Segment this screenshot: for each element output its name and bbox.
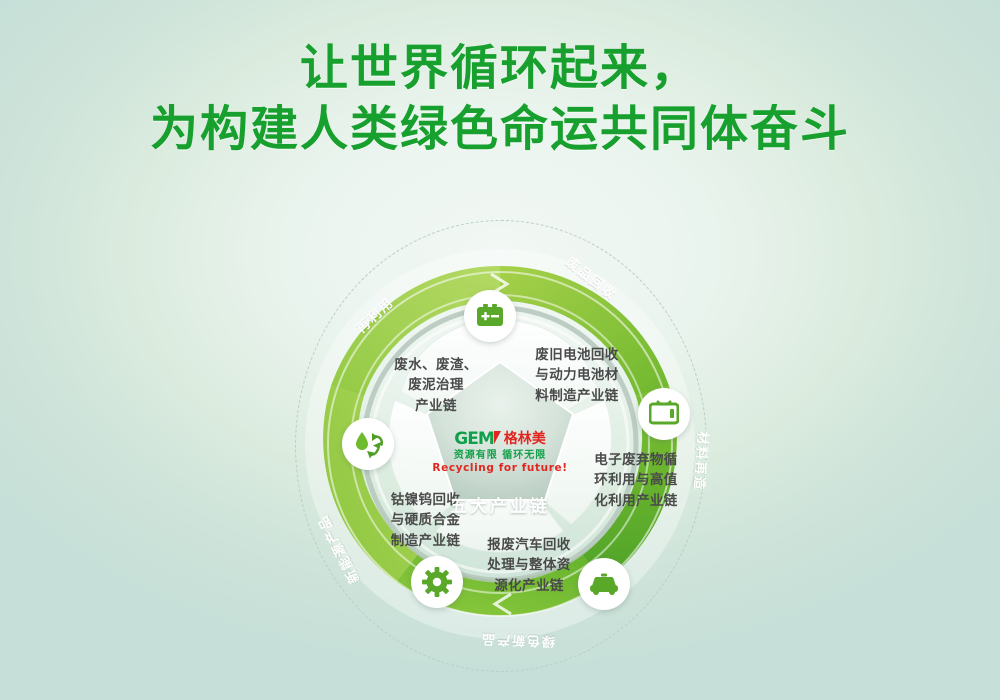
recycle-water-icon-bubble[interactable] bbox=[342, 418, 394, 470]
gem-logo: GEM格林美 资源有限 循环无限 Recycling for future! bbox=[430, 432, 570, 474]
gem-logo-triangle-icon bbox=[494, 431, 501, 444]
petal-label-e-waste: 电子废弃物循 环利用与高值 化利用产业链 bbox=[586, 450, 686, 511]
gear-icon-bubble[interactable] bbox=[411, 556, 463, 608]
petal-label-battery: 废旧电池回收 与动力电池材 料制造产业链 bbox=[513, 345, 641, 406]
petal-label-waste-water: 废水、废渣、 废泥治理 产业链 bbox=[381, 355, 491, 416]
battery-icon-bubble[interactable] bbox=[464, 290, 516, 342]
gear-icon bbox=[422, 567, 452, 597]
page-title-line-2: 为构建人类绿色命运共同体奋斗 bbox=[0, 99, 1000, 160]
monitor-icon bbox=[649, 400, 679, 428]
recycle-water-icon bbox=[352, 429, 384, 459]
ring-label-material-remake: 材料再造 bbox=[690, 431, 713, 492]
car-icon bbox=[588, 572, 620, 596]
car-icon-bubble[interactable] bbox=[578, 558, 630, 610]
center-branding: GEM格林美 资源有限 循环无限 Recycling for future! 五… bbox=[430, 414, 570, 554]
page-title-line-1: 让世界循环起来， bbox=[300, 42, 700, 95]
center-caption: 五大产业链 bbox=[430, 492, 570, 517]
gem-logo-slogan: 资源有限 循环无限 bbox=[430, 446, 570, 461]
gem-logo-tagline: Recycling for future! bbox=[430, 462, 570, 474]
poster-canvas: 让世界循环起来， 为构建人类绿色命运共同体奋斗 bbox=[0, 0, 1000, 700]
monitor-icon-bubble[interactable] bbox=[638, 388, 690, 440]
battery-icon bbox=[475, 303, 505, 329]
ring-label-green-new-product: 绿色新产品 bbox=[480, 631, 556, 653]
page-title: 让世界循环起来， 为构建人类绿色命运共同体奋斗 bbox=[0, 38, 1000, 161]
